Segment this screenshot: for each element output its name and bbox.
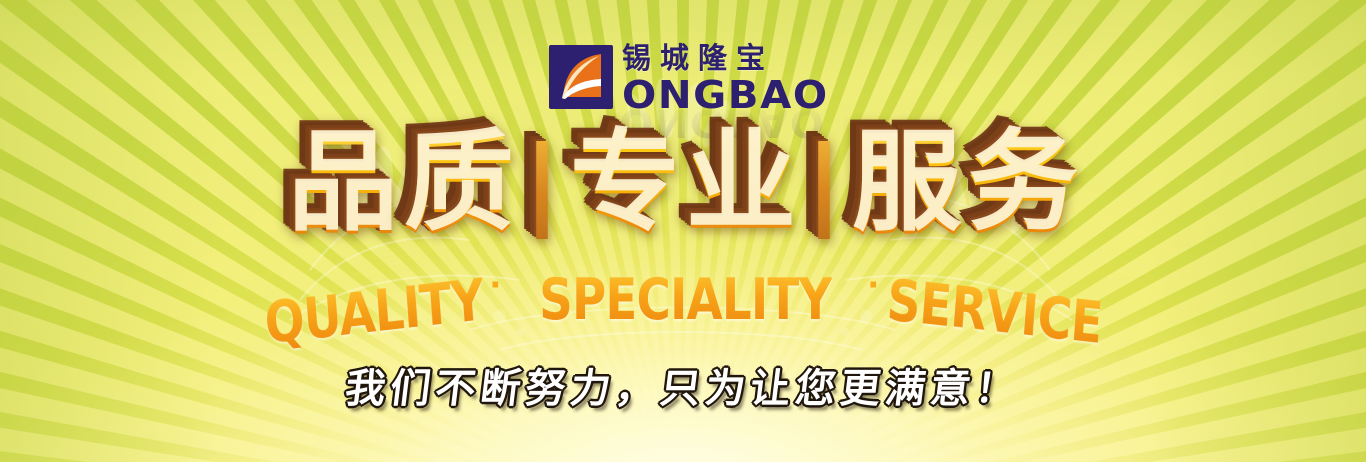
- logo-english-name: ONGBAO: [622, 76, 829, 114]
- company-logo: 锡城隆宝 ONGBAO ONGBAO: [0, 44, 1366, 114]
- promotional-banner: 锡城隆宝 ONGBAO ONGBAO 品质|专业|服务 QUALITY · SP…: [0, 0, 1366, 462]
- logo-chinese-name: 锡城隆宝: [622, 44, 817, 73]
- sail-swoosh-logo-icon: [549, 45, 613, 109]
